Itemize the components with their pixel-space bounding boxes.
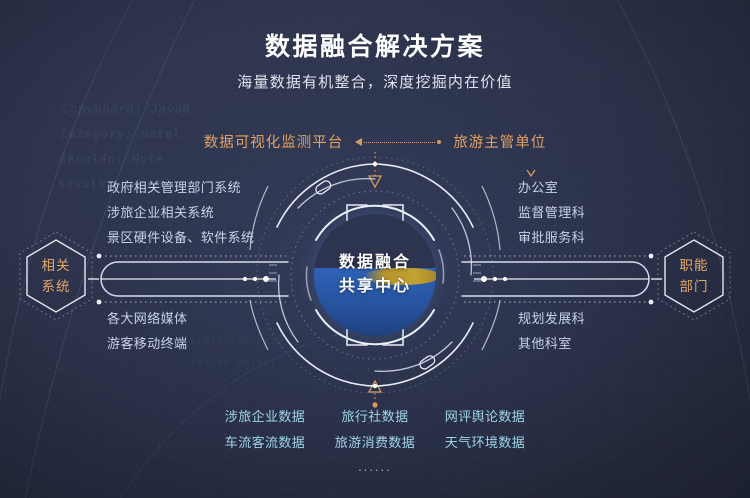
page-title: 数据融合解决方案 [0, 27, 750, 63]
list-item[interactable]: 景区硬件设备、软件系统 [107, 225, 254, 250]
top-label-row: 数据可视化监测平台 旅游主管单位 [0, 131, 750, 152]
infographic-canvas: Copyboard: Java0 Category: datel Shouldn… [0, 0, 750, 498]
left-bottom-source-list: 各大网络媒体 游客移动终端 [107, 306, 187, 356]
list-item[interactable]: 各大网络媒体 [107, 306, 187, 331]
list-item[interactable]: 政府相关管理部门系统 [107, 175, 254, 200]
data-ellipsis: ...... [358, 456, 392, 478]
data-row-2: 车流客流数据 旅游消费数据 天气环境数据 [210, 430, 540, 456]
list-item[interactable]: 游客移动终端 [107, 331, 187, 356]
hexagon-right-label: 职能 部门 [651, 228, 737, 324]
list-item[interactable]: 监督管理科 [518, 200, 585, 225]
data-row-1: 涉旅企业数据 旅行社数据 网评舆论数据 [210, 404, 540, 430]
hub-label: 数据融合 共享中心 [339, 251, 411, 299]
data-cell[interactable]: 旅游消费数据 [320, 430, 430, 456]
arrow-tail-dot [437, 140, 441, 144]
data-cell[interactable]: 车流客流数据 [210, 430, 320, 456]
list-item[interactable]: 审批服务科 [518, 225, 585, 250]
hexagon-left-label: 相关 系统 [13, 228, 99, 324]
arrow-line [364, 142, 435, 143]
left-top-source-list: 政府相关管理部门系统 涉旅企业相关系统 景区硬件设备、软件系统 [107, 175, 254, 250]
label-tourism-authority[interactable]: 旅游主管单位 [453, 131, 546, 152]
label-visualization-platform[interactable]: 数据可视化监测平台 [204, 131, 344, 152]
data-cell[interactable]: 涉旅企业数据 [210, 404, 320, 430]
hexagon-functional-departments[interactable]: 职能 部门 [651, 228, 737, 324]
data-cell[interactable]: 网评舆论数据 [430, 404, 540, 430]
data-cell[interactable]: 旅行社数据 [320, 404, 430, 430]
right-bottom-department-list: 规划发展科 其他科室 [518, 306, 585, 356]
data-fusion-hub[interactable]: 数据融合 共享中心 [255, 155, 495, 395]
arrow-head [355, 138, 362, 146]
dotted-arrow-left-icon [355, 137, 441, 147]
right-top-department-list: 办公室 监督管理科 审批服务科 [518, 175, 585, 250]
list-item[interactable]: 其他科室 [518, 331, 585, 356]
bottom-data-grid: 涉旅企业数据 旅行社数据 网评舆论数据 车流客流数据 旅游消费数据 天气环境数据… [0, 404, 750, 478]
hexagon-related-systems[interactable]: 相关 系统 [13, 228, 99, 324]
list-item[interactable]: 办公室 [518, 175, 585, 200]
list-item[interactable]: 规划发展科 [518, 306, 585, 331]
page-subtitle: 海量数据有机整合，深度挖掘内在价值 [0, 71, 750, 92]
list-item[interactable]: 涉旅企业相关系统 [107, 200, 254, 225]
data-cell[interactable]: 天气环境数据 [430, 430, 540, 456]
